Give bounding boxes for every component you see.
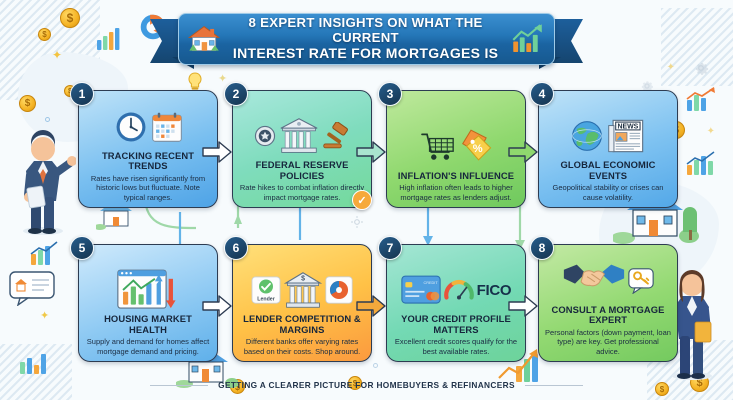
card-body: Excellent credit scores qualify for the … bbox=[393, 337, 519, 356]
banner-title-line2: INTEREST RATE FOR MORTGAGES IS bbox=[229, 46, 502, 62]
insight-card-6[interactable]: 6 Lender $ LENDER COMPETITION & MARGINS … bbox=[232, 244, 372, 362]
svg-text:Lender: Lender bbox=[257, 297, 275, 303]
arrow-card5-to-card6 bbox=[202, 294, 232, 318]
bank-building-icon: $ bbox=[284, 271, 322, 309]
card-body: Geopolitical stability or crises can cau… bbox=[545, 183, 671, 202]
card-icons: Lender $ bbox=[239, 267, 365, 313]
svg-text:NEWS: NEWS bbox=[617, 124, 638, 131]
card-title: HOUSING MARKET HEALTH bbox=[85, 314, 211, 335]
fico-gauge-icon bbox=[444, 278, 474, 302]
title-banner: 8 EXPERT INSIGHTS ON WHAT THE CURRENT IN… bbox=[0, 5, 733, 67]
shopping-cart-icon bbox=[420, 131, 456, 163]
check-badge-icon: ✓ bbox=[352, 190, 372, 210]
arrow-card1-to-card2 bbox=[202, 140, 232, 164]
card-title: CONSULT A MORTGAGE EXPERT bbox=[545, 305, 671, 326]
card-body: Rates have risen significantly from hist… bbox=[85, 174, 211, 202]
card-title: LENDER COMPETITION & MARGINS bbox=[239, 314, 365, 335]
insight-card-7[interactable]: 7 CREDIT FICO YOUR CREDIT PROFILE MATTER… bbox=[386, 244, 526, 362]
gavel-icon bbox=[322, 122, 350, 150]
federal-seal-icon bbox=[254, 125, 276, 147]
insight-card-5[interactable]: 5 HOUSING MARKET HEALTH Supply and deman… bbox=[78, 244, 218, 362]
card-number-badge: 4 bbox=[530, 82, 554, 106]
card-number-badge: 2 bbox=[224, 82, 248, 106]
card-icons: % bbox=[393, 124, 519, 170]
arrow-card6-to-card7 bbox=[356, 294, 386, 318]
banner-title-line1: 8 EXPERT INSIGHTS ON WHAT THE CURRENT bbox=[249, 15, 483, 45]
fico-label: FICO bbox=[477, 282, 512, 299]
card-number-badge: 1 bbox=[70, 82, 94, 106]
house-icon bbox=[187, 22, 221, 56]
insight-card-8[interactable]: 8 CONSULT A MORTGAGE EXPERT Personal fac… bbox=[538, 244, 678, 362]
banner-title: 8 EXPERT INSIGHTS ON WHAT THE CURRENT IN… bbox=[229, 16, 502, 61]
footer-rule-right bbox=[525, 385, 583, 386]
card-body: Personal factors (down payment, loan typ… bbox=[545, 328, 671, 356]
card-icons bbox=[85, 267, 211, 313]
newspaper-icon: NEWS bbox=[607, 117, 647, 155]
footer: GETTING A CLEARER PICTURE FOR HOMEBUYERS… bbox=[0, 373, 733, 391]
arrow-card3-to-card4 bbox=[508, 140, 538, 164]
market-chart-window-icon bbox=[117, 269, 179, 311]
insight-card-4[interactable]: 4 NEWS GLOBAL ECONOMIC EVENTS Geopolitic… bbox=[538, 90, 678, 208]
pie-chart-icon bbox=[325, 276, 353, 304]
card-body: Rate hikes to combat inflation directly … bbox=[239, 183, 365, 202]
card-body: High inflation often leads to higher mor… bbox=[393, 183, 519, 202]
lender-badge-icon: Lender bbox=[251, 276, 281, 304]
card-number-badge: 6 bbox=[224, 236, 248, 260]
card-body: Different banks offer varying rates base… bbox=[239, 337, 365, 356]
arrow-card2-to-card3 bbox=[356, 140, 386, 164]
svg-text:CREDIT: CREDIT bbox=[423, 281, 438, 285]
key-speech-bubble-icon bbox=[628, 268, 654, 294]
card-icons bbox=[239, 113, 365, 159]
card-title: INFLATION'S INFLUENCE bbox=[393, 171, 519, 182]
percent-tag-icon: % bbox=[459, 129, 493, 165]
card-number-badge: 7 bbox=[378, 236, 402, 260]
footer-rule-left bbox=[150, 385, 208, 386]
globe-icon bbox=[570, 119, 604, 153]
svg-text:$: $ bbox=[301, 276, 305, 283]
card-number-badge: 8 bbox=[530, 236, 554, 260]
arrow-card7-to-card8 bbox=[508, 294, 538, 318]
card-icons bbox=[85, 104, 211, 150]
card-title: GLOBAL ECONOMIC EVENTS bbox=[545, 160, 671, 181]
bank-building-icon bbox=[279, 117, 319, 155]
card-icons bbox=[545, 258, 671, 304]
card-number-badge: 5 bbox=[70, 236, 94, 260]
insight-card-1[interactable]: 1 TRACKING RECENT TRENDS Rates bbox=[78, 90, 218, 208]
ribbon-body: 8 EXPERT INSIGHTS ON WHAT THE CURRENT IN… bbox=[178, 13, 555, 65]
insight-card-3[interactable]: 3 % INFLATION'S INFLUENCE High inflation… bbox=[386, 90, 526, 208]
card-title: YOUR CREDIT PROFILE MATTERS bbox=[393, 314, 519, 335]
growth-bar-chart-icon bbox=[510, 22, 546, 56]
card-body: Supply and demand for homes affect mortg… bbox=[85, 337, 211, 356]
insight-card-2[interactable]: 2 FEDERAL RESERVE POLICIES Rate hikes to… bbox=[232, 90, 372, 208]
svg-text:%: % bbox=[472, 143, 482, 155]
clock-icon bbox=[114, 110, 148, 144]
card-title: TRACKING RECENT TRENDS bbox=[85, 151, 211, 172]
card-number-badge: 3 bbox=[378, 82, 402, 106]
card-icons: NEWS bbox=[545, 113, 671, 159]
card-title: FEDERAL RESERVE POLICIES bbox=[239, 160, 365, 181]
handshake-icon bbox=[563, 261, 625, 301]
footer-text: GETTING A CLEARER PICTURE FOR HOMEBUYERS… bbox=[218, 380, 515, 390]
card-icons: CREDIT FICO bbox=[393, 267, 519, 313]
credit-card-icon: CREDIT bbox=[401, 275, 441, 305]
calendar-icon bbox=[151, 111, 183, 143]
